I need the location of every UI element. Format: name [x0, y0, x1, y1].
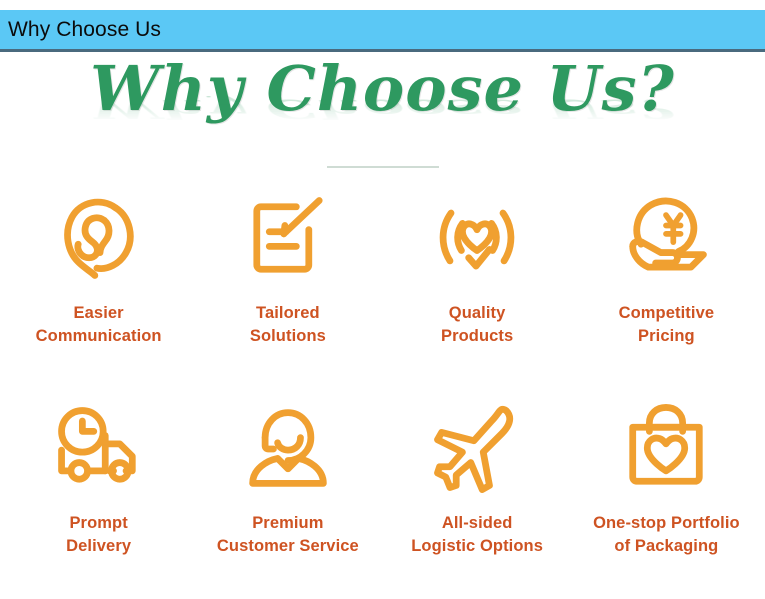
feature-label-line1: Quality — [449, 304, 506, 322]
title-banner: Why Choose Us — [0, 10, 765, 52]
feature-label: Quality Products — [441, 302, 513, 349]
shopping-bag-heart-icon — [614, 396, 718, 500]
feature-label-line2: of Packaging — [593, 535, 740, 558]
feature-label: All-sided Logistic Options — [411, 512, 543, 559]
feature-item-easier-communication[interactable]: Easier Communication — [4, 172, 193, 382]
feature-label: Prompt Delivery — [66, 512, 131, 559]
feature-item-one-stop-portfolio-of-packaging[interactable]: One-stop Portfolio of Packaging — [572, 382, 761, 592]
feature-label-line2: Solutions — [250, 325, 326, 348]
feature-label-line2: Products — [441, 325, 513, 348]
feature-label: Premium Customer Service — [217, 512, 359, 559]
airplane-icon — [425, 396, 529, 500]
feature-label-line1: All-sided — [442, 514, 513, 532]
headset-agent-icon — [236, 396, 340, 500]
feature-label-line1: Premium — [252, 514, 323, 532]
ear-in-circle-icon — [47, 186, 151, 290]
feature-label-line1: One-stop Portfolio — [593, 514, 740, 532]
feature-label-line2: Delivery — [66, 535, 131, 558]
feature-label-line1: Competitive — [619, 304, 715, 322]
hero-heading: Why Choose Us? — [90, 58, 675, 120]
hero-divider — [327, 166, 439, 168]
feature-label: One-stop Portfolio of Packaging — [593, 512, 740, 559]
hero-section: Why Choose Us? Why Choose Us? — [0, 52, 765, 172]
feature-label: Tailored Solutions — [250, 302, 326, 349]
feature-item-quality-products[interactable]: Quality Products — [383, 172, 572, 382]
feature-item-premium-customer-service[interactable]: Premium Customer Service — [193, 382, 382, 592]
feature-label-line2: Communication — [36, 325, 162, 348]
feature-label-line2: Customer Service — [217, 535, 359, 558]
feature-label-line2: Logistic Options — [411, 535, 543, 558]
feature-label-line1: Prompt — [69, 514, 127, 532]
document-pencil-icon — [236, 186, 340, 290]
hand-holding-yen-coin-icon — [614, 186, 718, 290]
page-title: Why Choose Us — [8, 19, 161, 40]
delivery-truck-clock-icon — [47, 396, 151, 500]
feature-label: Easier Communication — [36, 302, 162, 349]
feature-label-line1: Tailored — [256, 304, 320, 322]
feature-item-competitive-pricing[interactable]: Competitive Pricing — [572, 172, 761, 382]
feature-label: Competitive Pricing — [619, 302, 715, 349]
title-banner-wrapper: Why Choose Us — [0, 0, 765, 52]
feature-item-prompt-delivery[interactable]: Prompt Delivery — [4, 382, 193, 592]
feature-item-all-sided-logistic-options[interactable]: All-sided Logistic Options — [383, 382, 572, 592]
feature-label-line2: Pricing — [619, 325, 715, 348]
feature-label-line1: Easier — [74, 304, 124, 322]
feature-item-tailored-solutions[interactable]: Tailored Solutions — [193, 172, 382, 382]
heart-signal-check-icon — [425, 186, 529, 290]
feature-grid: Easier Communication Tailored Solutions — [0, 172, 765, 592]
